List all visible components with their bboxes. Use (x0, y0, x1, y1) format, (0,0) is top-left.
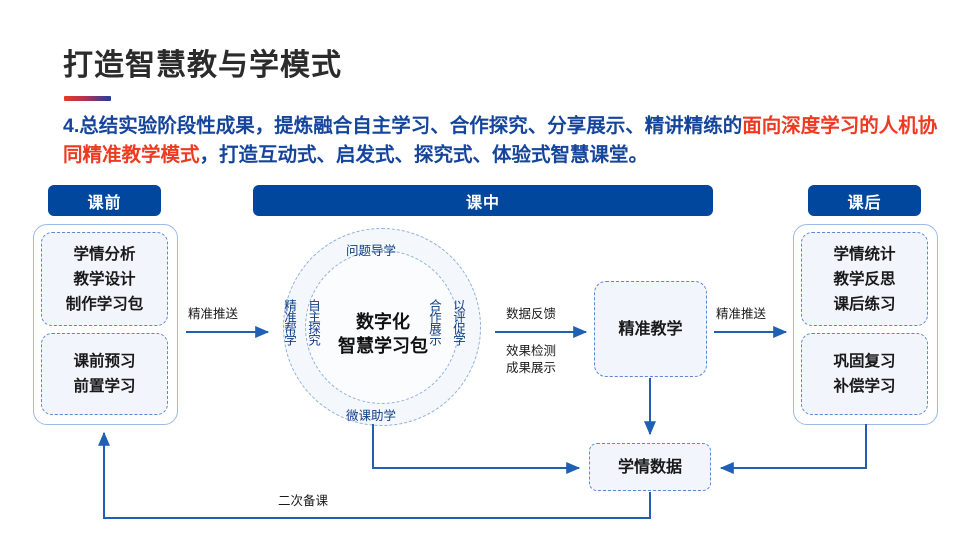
arrow-learning-data-to-pre-class (104, 433, 650, 518)
post-class-card-review: 巩固复习 补偿学习 (801, 333, 928, 415)
flow-label-data-feedback: 数据反馈 (506, 306, 556, 323)
page-title: 打造智慧教与学模式 (63, 40, 342, 84)
ring-label-self-inquiry: 自主探究 (307, 299, 319, 345)
arrow-center-to-learning-data (373, 424, 579, 468)
post-card2-line2: 补偿学习 (833, 374, 895, 399)
ring-label-question-guided: 问题导学 (346, 240, 396, 259)
node-learning-data-label: 学情数据 (618, 455, 682, 480)
flow-label-push-to-center: 精准推送 (188, 306, 238, 323)
section-header-in-class: 课中 (253, 185, 713, 216)
flow-label-push-to-post: 精准推送 (716, 306, 766, 323)
pre-card1-line2: 教学设计 (73, 267, 135, 292)
ring-label-evaluate-promote: 以评促学 (452, 299, 464, 345)
ring-label-microlesson-aid: 微课助学 (346, 405, 396, 424)
node-learning-data: 学情数据 (589, 443, 711, 491)
slide-canvas: 打造智慧教与学模式 4.总结实验阶段性成果，提炼融合自主学习、合作探究、分享展示… (0, 0, 967, 544)
subtitle-part-1: 4.总结实验阶段性成果，提炼融合自主学习、合作探究、分享展示、精讲精练的 (63, 115, 742, 137)
subtitle-part-3: ，打造互动式、启发式、探究式、体验式智慧课堂。 (200, 144, 649, 166)
pre-class-card-preparation: 学情分析 教学设计 制作学习包 (41, 232, 168, 326)
pre-card1-line3: 制作学习包 (66, 292, 144, 317)
core-line2: 智慧学习包 (328, 334, 438, 358)
section-header-pre-class: 课前 (48, 185, 161, 216)
flow-label-effect-check-line1: 效果检测 (506, 344, 556, 358)
node-precision-teaching: 精准教学 (594, 281, 707, 377)
node-precision-teaching-label: 精准教学 (618, 317, 682, 342)
pre-card2-line1: 课前预习 (73, 349, 135, 374)
flow-label-effect-check-line2: 成果展示 (506, 361, 556, 375)
core-line1: 数字化 (328, 310, 438, 334)
pre-card2-line2: 前置学习 (73, 374, 135, 399)
post-card1-line3: 课后练习 (833, 292, 895, 317)
flow-label-effect-check: 效果检测 成果展示 (506, 343, 556, 377)
post-class-card-statistics: 学情统计 教学反思 课后练习 (801, 232, 928, 326)
post-card2-line1: 巩固复习 (833, 349, 895, 374)
arrow-post-to-learning-data (721, 424, 866, 468)
section-header-post-class: 课后 (808, 185, 921, 216)
ring-label-precise-help: 精准帮学 (283, 299, 295, 345)
post-card1-line2: 教学反思 (833, 267, 895, 292)
post-card1-line1: 学情统计 (833, 242, 895, 267)
flow-label-second-preparation: 二次备课 (278, 493, 328, 510)
pre-card1-line1: 学情分析 (73, 242, 135, 267)
circle-core-label: 数字化 智慧学习包 (328, 310, 438, 358)
subtitle-paragraph: 4.总结实验阶段性成果，提炼融合自主学习、合作探究、分享展示、精讲精练的面向深度… (63, 112, 943, 170)
title-underline-rule (64, 96, 111, 101)
pre-class-card-preview: 课前预习 前置学习 (41, 333, 168, 415)
